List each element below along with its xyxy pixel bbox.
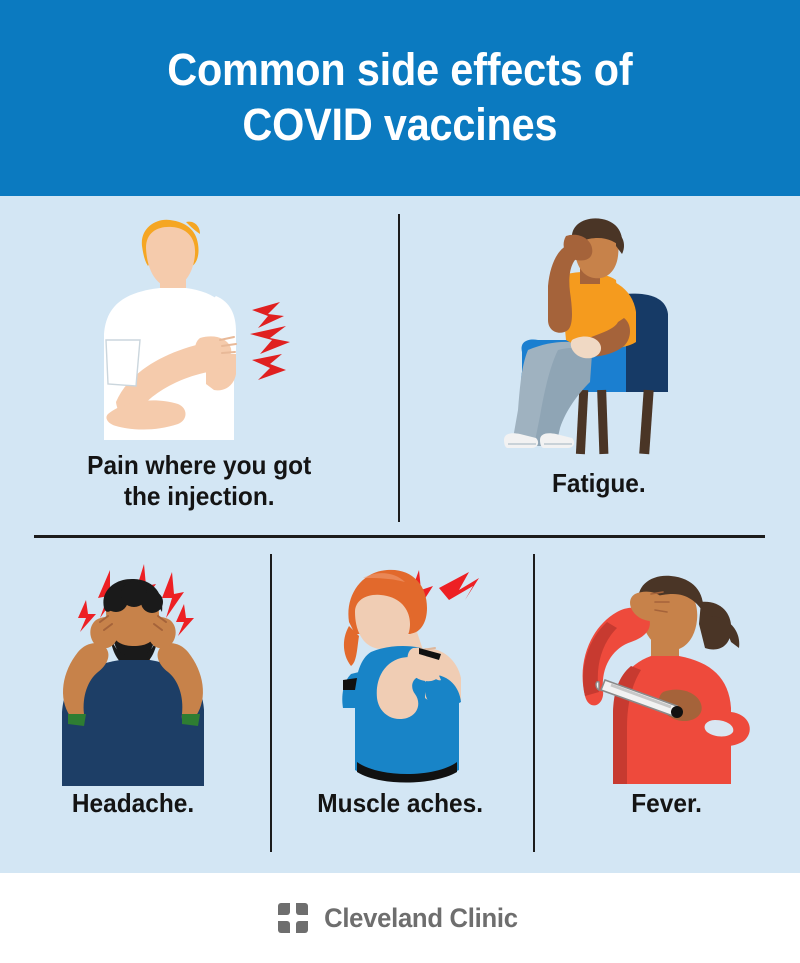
side-effects-grid: Pain where you got the injection. (0, 196, 800, 873)
injection-site-pain-illustration (74, 214, 324, 444)
header-banner: Common side effects of COVID vaccines (0, 0, 800, 196)
panel-fever: Fever. (533, 540, 800, 873)
panel-muscle-aches: Muscle aches. (267, 540, 534, 873)
row-bottom: Headache. (0, 540, 800, 873)
fatigue-illustration (474, 214, 724, 462)
caption-fever: Fever. (631, 788, 702, 819)
logo-wordmark: Cleveland Clinic (324, 903, 518, 934)
logo-quadrant-top-right (296, 903, 308, 915)
caption-fatigue: Fatigue. (552, 468, 646, 499)
footer: Cleveland Clinic (0, 873, 800, 963)
cleveland-clinic-logo: Cleveland Clinic (278, 903, 523, 934)
panel-headache: Headache. (0, 540, 267, 873)
caption-headache: Headache. (72, 788, 194, 819)
muscle-aches-illustration (293, 556, 507, 788)
logo-quadrant-bottom-left (278, 921, 290, 933)
panel-injection-pain: Pain where you got the injection. (0, 196, 398, 535)
cleveland-clinic-logo-mark (278, 903, 308, 933)
logo-quadrant-top-left (278, 903, 290, 915)
caption-injection-pain: Pain where you got the injection. (87, 450, 311, 511)
page-title: Common side effects of COVID vaccines (167, 43, 632, 153)
panel-fatigue: Fatigue. (398, 196, 800, 535)
fever-illustration (555, 556, 777, 788)
caption-muscle-aches: Muscle aches. (317, 788, 483, 819)
headache-illustration (22, 556, 244, 788)
infographic-root: Common side effects of COVID vaccines (0, 0, 800, 963)
divider-horizontal (34, 535, 765, 538)
logo-quadrant-bottom-right (296, 921, 308, 933)
row-top: Pain where you got the injection. (0, 196, 800, 535)
